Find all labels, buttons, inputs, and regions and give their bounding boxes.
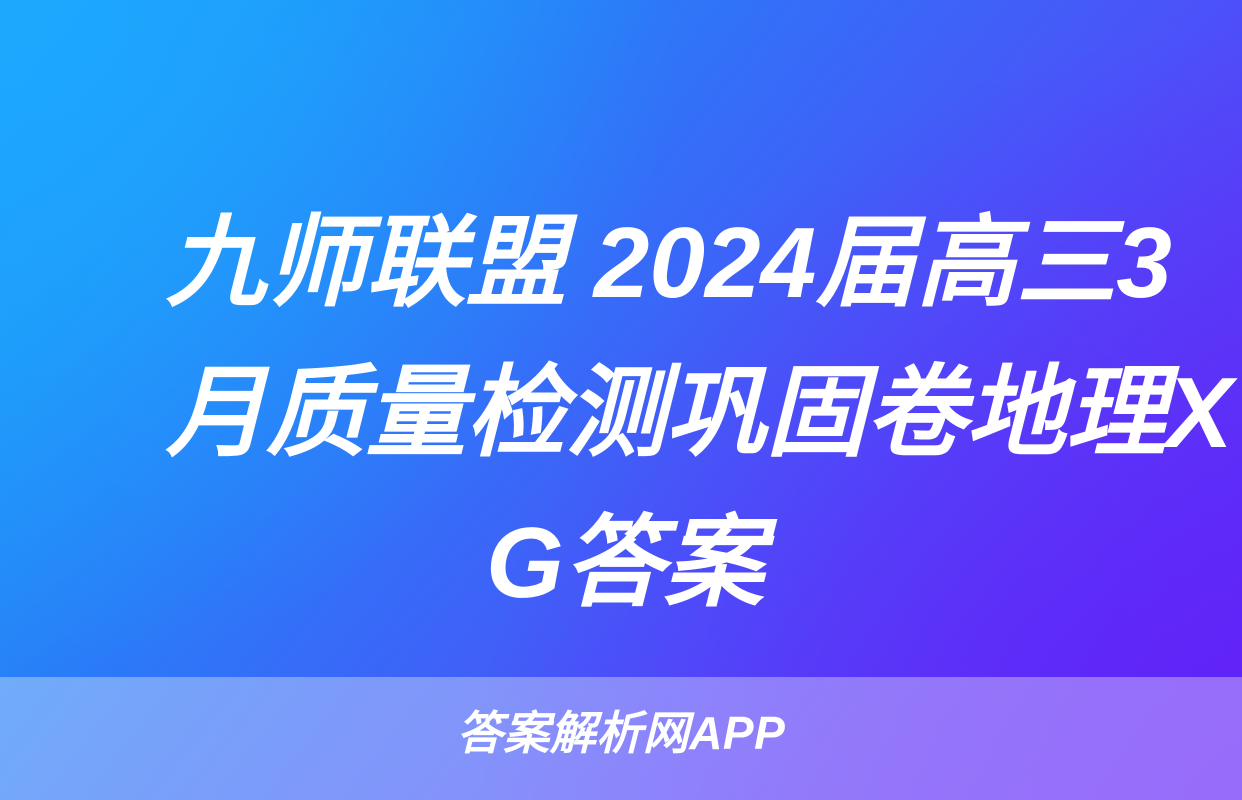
title-line-3: G答案 <box>56 488 1186 638</box>
title-line-2: 月质量检测巩固卷地理X <box>56 338 1186 488</box>
watermark-label: 答案解析网APP <box>457 705 786 761</box>
promo-banner: 九师联盟 2024届高三3 月质量检测巩固卷地理X G答案 答案解析网APP <box>0 0 1242 800</box>
watermark: 答案解析网APP <box>0 705 1242 761</box>
title-line-1: 九师联盟 2024届高三3 <box>56 188 1186 338</box>
page-title: 九师联盟 2024届高三3 月质量检测巩固卷地理X G答案 <box>0 188 1242 638</box>
